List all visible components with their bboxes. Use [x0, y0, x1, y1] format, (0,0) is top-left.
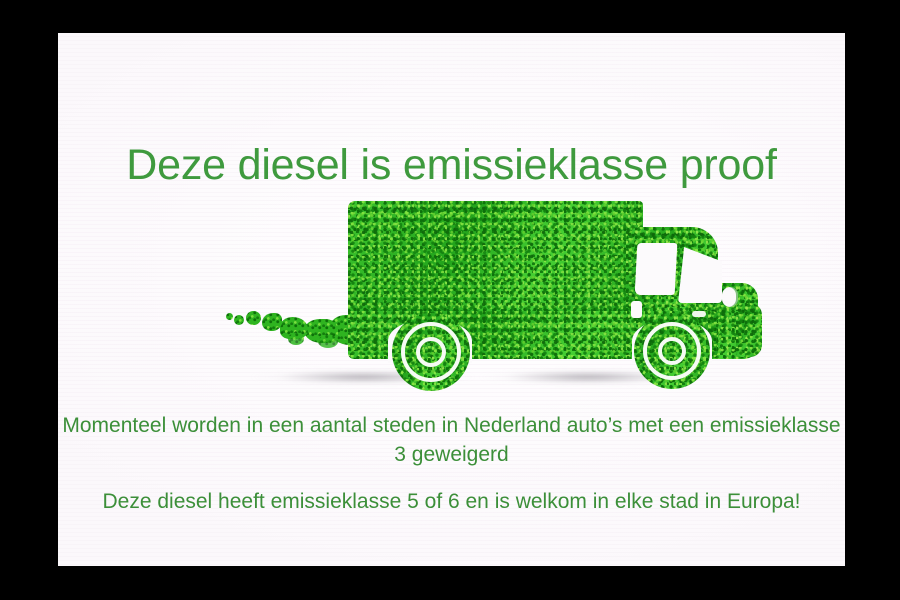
poster-frame: Deze diesel is emissieklasse proof: [0, 0, 900, 600]
exhaust-puff: [226, 313, 233, 320]
van-side-window: [635, 243, 678, 295]
van-wheel-rear: [392, 313, 470, 391]
exhaust-plume-icon: [226, 299, 366, 355]
van-wing-mirror: [722, 287, 738, 307]
page-title: Deze diesel is emissieklasse proof: [58, 141, 845, 190]
van-front-bumper: [736, 303, 762, 357]
exhaust-puff: [246, 311, 261, 325]
exhaust-puff: [288, 333, 304, 345]
van-quarter-light: [631, 301, 642, 318]
green-van-illustration: [176, 191, 736, 403]
van-wheel-front: [634, 313, 710, 389]
wheel-rim-inner-ring: [416, 337, 446, 367]
exhaust-puff: [318, 335, 338, 348]
van-door-handle: [692, 311, 706, 317]
exhaust-puff: [262, 313, 282, 331]
exhaust-puff: [234, 315, 244, 325]
wheel-rim-inner-ring: [658, 337, 686, 365]
caption-line-2: Deze diesel heeft emissieklasse 5 of 6 e…: [58, 487, 845, 516]
caption-line-1: Momenteel worden in een aantal steden in…: [58, 411, 845, 469]
poster-canvas: Deze diesel is emissieklasse proof: [58, 33, 845, 566]
